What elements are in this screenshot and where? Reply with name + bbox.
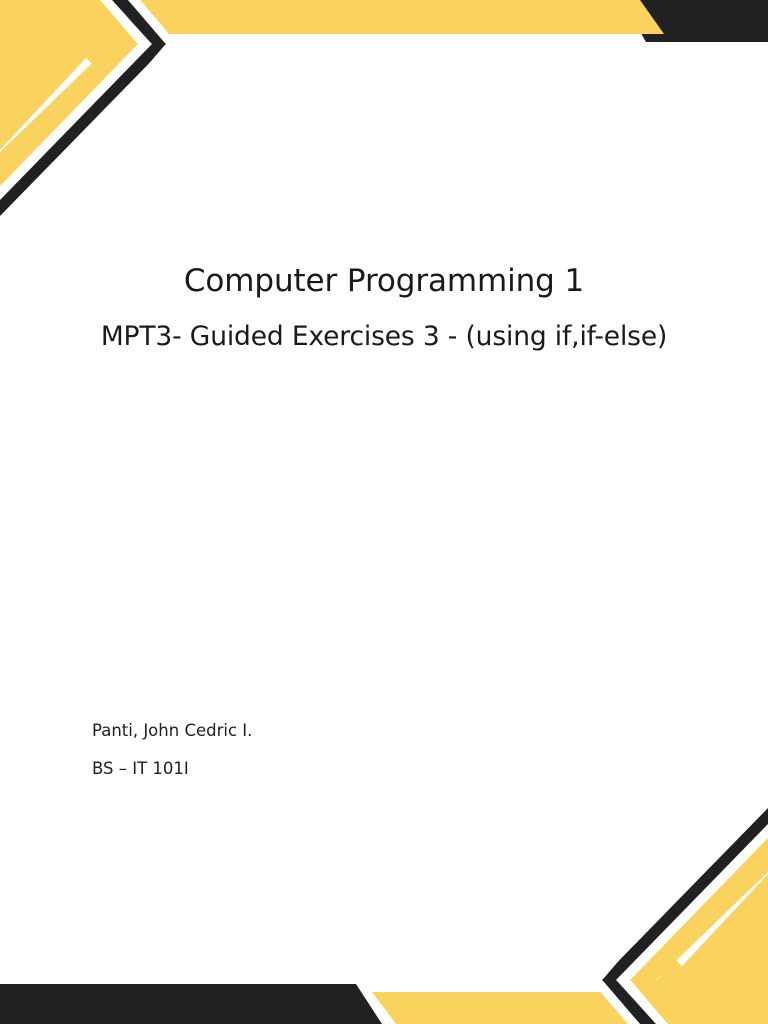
page-title: Computer Programming 1 <box>0 262 768 301</box>
author-block: Panti, John Cedric I. BS – IT 101I <box>92 722 252 778</box>
document-cover-page: Computer Programming 1 MPT3- Guided Exer… <box>0 0 768 1024</box>
page-subtitle: MPT3- Guided Exercises 3 - (using if,if-… <box>0 320 768 354</box>
title-block: Computer Programming 1 MPT3- Guided Exer… <box>0 262 768 354</box>
cover-content: Computer Programming 1 MPT3- Guided Exer… <box>0 0 768 1024</box>
author-program: BS – IT 101I <box>92 760 252 778</box>
author-name: Panti, John Cedric I. <box>92 722 252 740</box>
